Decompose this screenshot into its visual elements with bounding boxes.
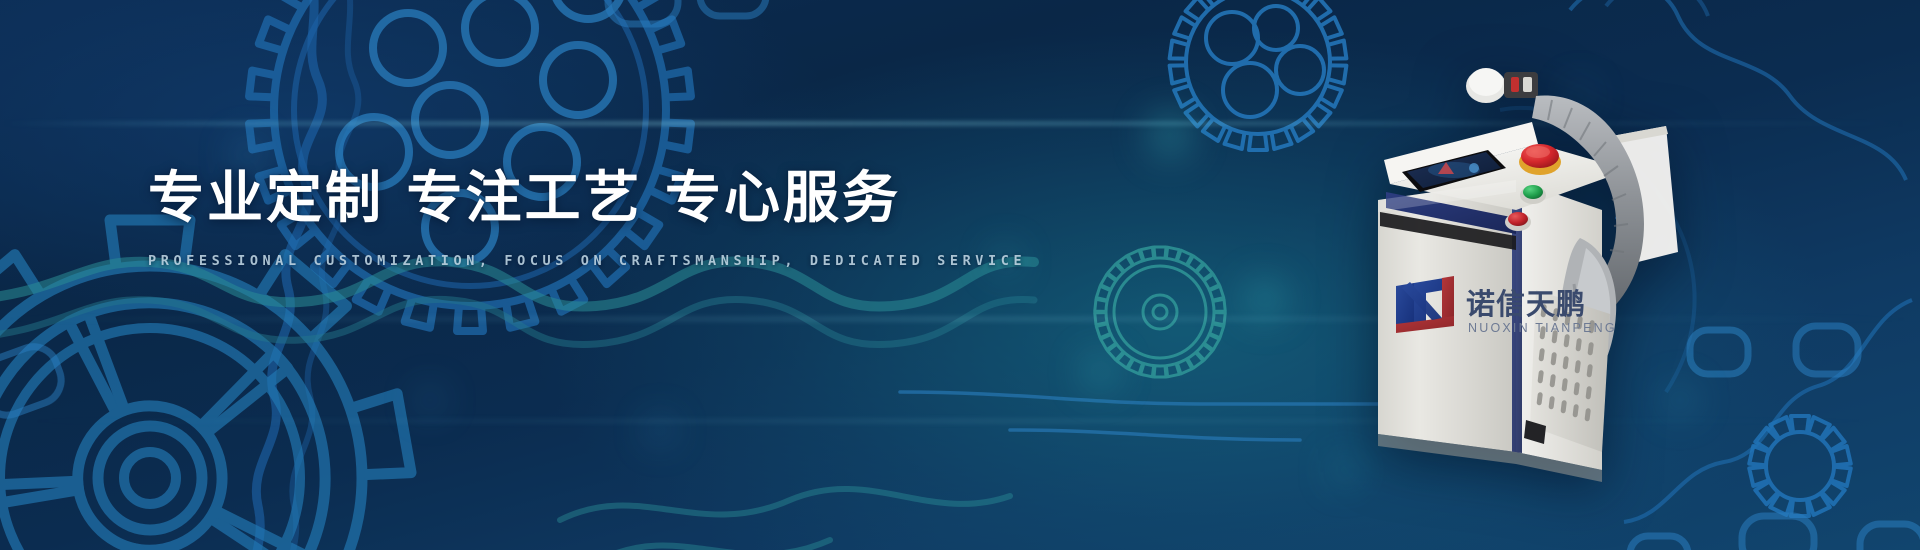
glow-blue-f xyxy=(640,410,680,450)
glow-teal-j xyxy=(1324,449,1366,491)
promo-banner: 专业定制 专注工艺 专心服务 PROFESSIONAL CUSTOMIZATIO… xyxy=(0,0,1920,550)
gear-fine-teal-mid xyxy=(1095,247,1226,377)
top-sensor-knob xyxy=(1466,68,1538,103)
product-image-laser-welder: 诺信天鹏 NUOXIN TIANPENG xyxy=(1366,52,1920,522)
glow-teal-b xyxy=(1238,272,1292,326)
banner-text-block: 专业定制 专注工艺 专心服务 PROFESSIONAL CUSTOMIZATIO… xyxy=(148,168,1026,269)
gear-cluster-top-center xyxy=(1170,0,1347,150)
gear-wavy-band-center-left xyxy=(0,261,1034,344)
glow-teal-a xyxy=(1140,105,1200,165)
gear-large-top-left xyxy=(250,0,358,550)
gear-wheel-bottom-left xyxy=(0,220,411,550)
banner-subheadline: PROFESSIONAL CUSTOMIZATION, FOCUS ON CRA… xyxy=(148,253,1026,269)
glow-teal-c xyxy=(1076,348,1124,396)
emergency-stop-button[interactable] xyxy=(1519,144,1561,175)
wavy-strands-bottom-center xyxy=(560,489,1010,550)
glow-blue-e xyxy=(412,382,448,418)
brand-name-cn: 诺信天鹏 xyxy=(1466,287,1586,321)
brand-name-en: NUOXIN TIANPENG xyxy=(1468,321,1617,335)
connector-lines-right xyxy=(900,392,1430,440)
banner-headline: 专业定制 专注工艺 专心服务 xyxy=(148,168,1026,231)
